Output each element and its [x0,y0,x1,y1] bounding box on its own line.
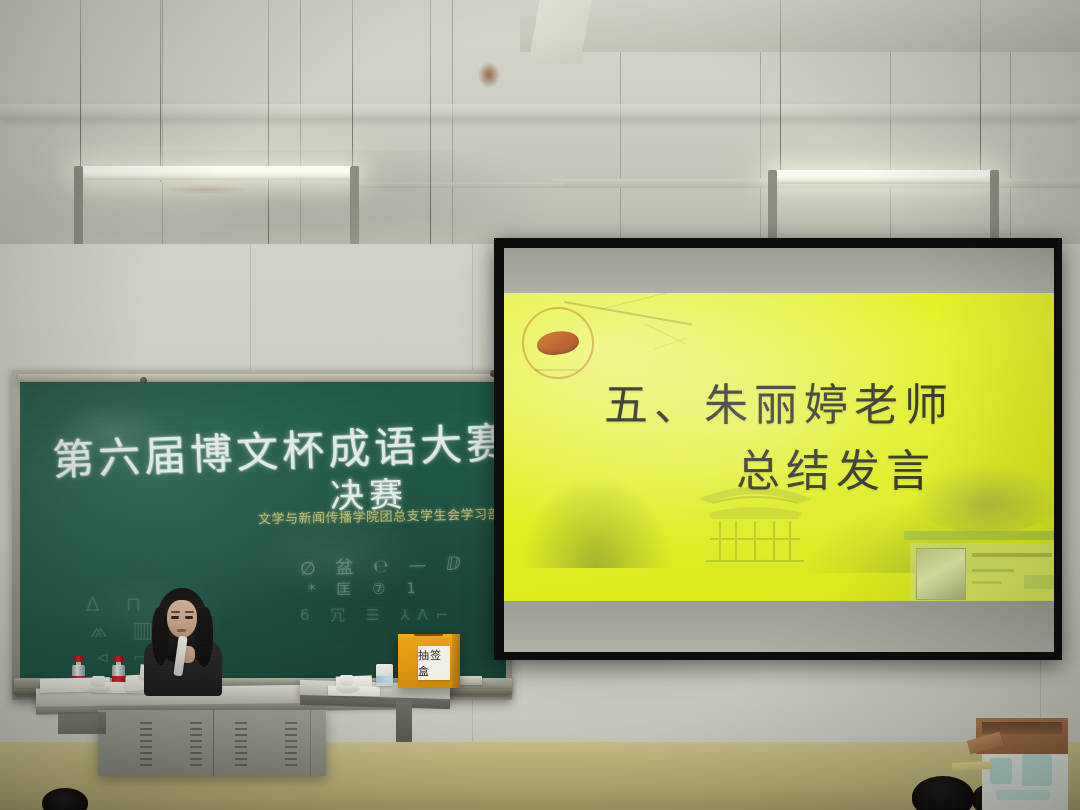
tissue-box [376,664,393,686]
slide-title-line-1: 五、朱丽婷老师 [604,369,954,433]
speaker-hair-right-strand [195,607,213,667]
speaker-eye [171,616,179,619]
ceiling [0,0,1080,250]
podium-panel-seam [213,710,214,776]
paper-cup-left [92,676,105,687]
light-hanging-wire [80,0,81,166]
light-hanging-wire [780,0,781,172]
paper-cup-center [340,675,353,686]
blackboard-screw [140,377,147,384]
speaker-eye [185,616,193,619]
lottery-box-label: 抽签盒 [418,646,450,680]
ceiling-beam-block [520,0,1080,52]
blackboard-faint-mark-3: 6 冗 ☰ ⅄Λ⌐ [300,604,456,625]
light-hanging-wire [160,0,161,182]
speaker-mouth [177,629,186,632]
projection-screen-surface: 五、朱丽婷老师 总结发言 [504,248,1054,652]
blackboard-frame-top [18,374,510,381]
podium-vent-mid-left [190,722,202,766]
slide-people-photo [912,463,1054,533]
lottery-box-slot [414,634,443,636]
screen-bottom-band [504,601,1054,652]
light-hanging-wire [430,0,431,280]
podium-vent-right [285,722,297,766]
audience-head-left [42,788,88,810]
ink-wash-hill [522,473,672,568]
ceiling-stain [478,62,500,88]
light-hanging-wire [980,0,981,172]
blackboard-faint-mark-2: * 匡 ⑦ 1 [308,577,424,600]
podium-side-panel [396,700,412,742]
podium-panel-seam [310,710,311,776]
speaker-face [167,600,197,638]
slide-accent-chip [1024,575,1054,589]
podium-vent-mid-right [235,722,247,766]
slide-photo-thumbnail [916,548,966,600]
slide-title-line-2: 总结发言 [736,435,936,499]
audience-head-right [912,776,974,810]
light-hanging-wire [268,0,269,272]
light-hanging-wire [352,0,353,172]
presentation-slide: 五、朱丽婷老师 总结发言 [504,293,1054,601]
podium-vent-left [140,722,152,766]
screen-top-band [504,248,1054,293]
podium-lower-ledge [58,712,106,734]
slide-corner-card [910,543,1054,601]
slide-green-band [904,531,1054,540]
classroom-photo-scene: 第六届博文杯成语大赛 决赛 文学与新闻传播学院团总支学生会学习部 ∅ 盆 ℮ —… [0,0,1080,810]
ceiling-beam-face [528,0,591,64]
